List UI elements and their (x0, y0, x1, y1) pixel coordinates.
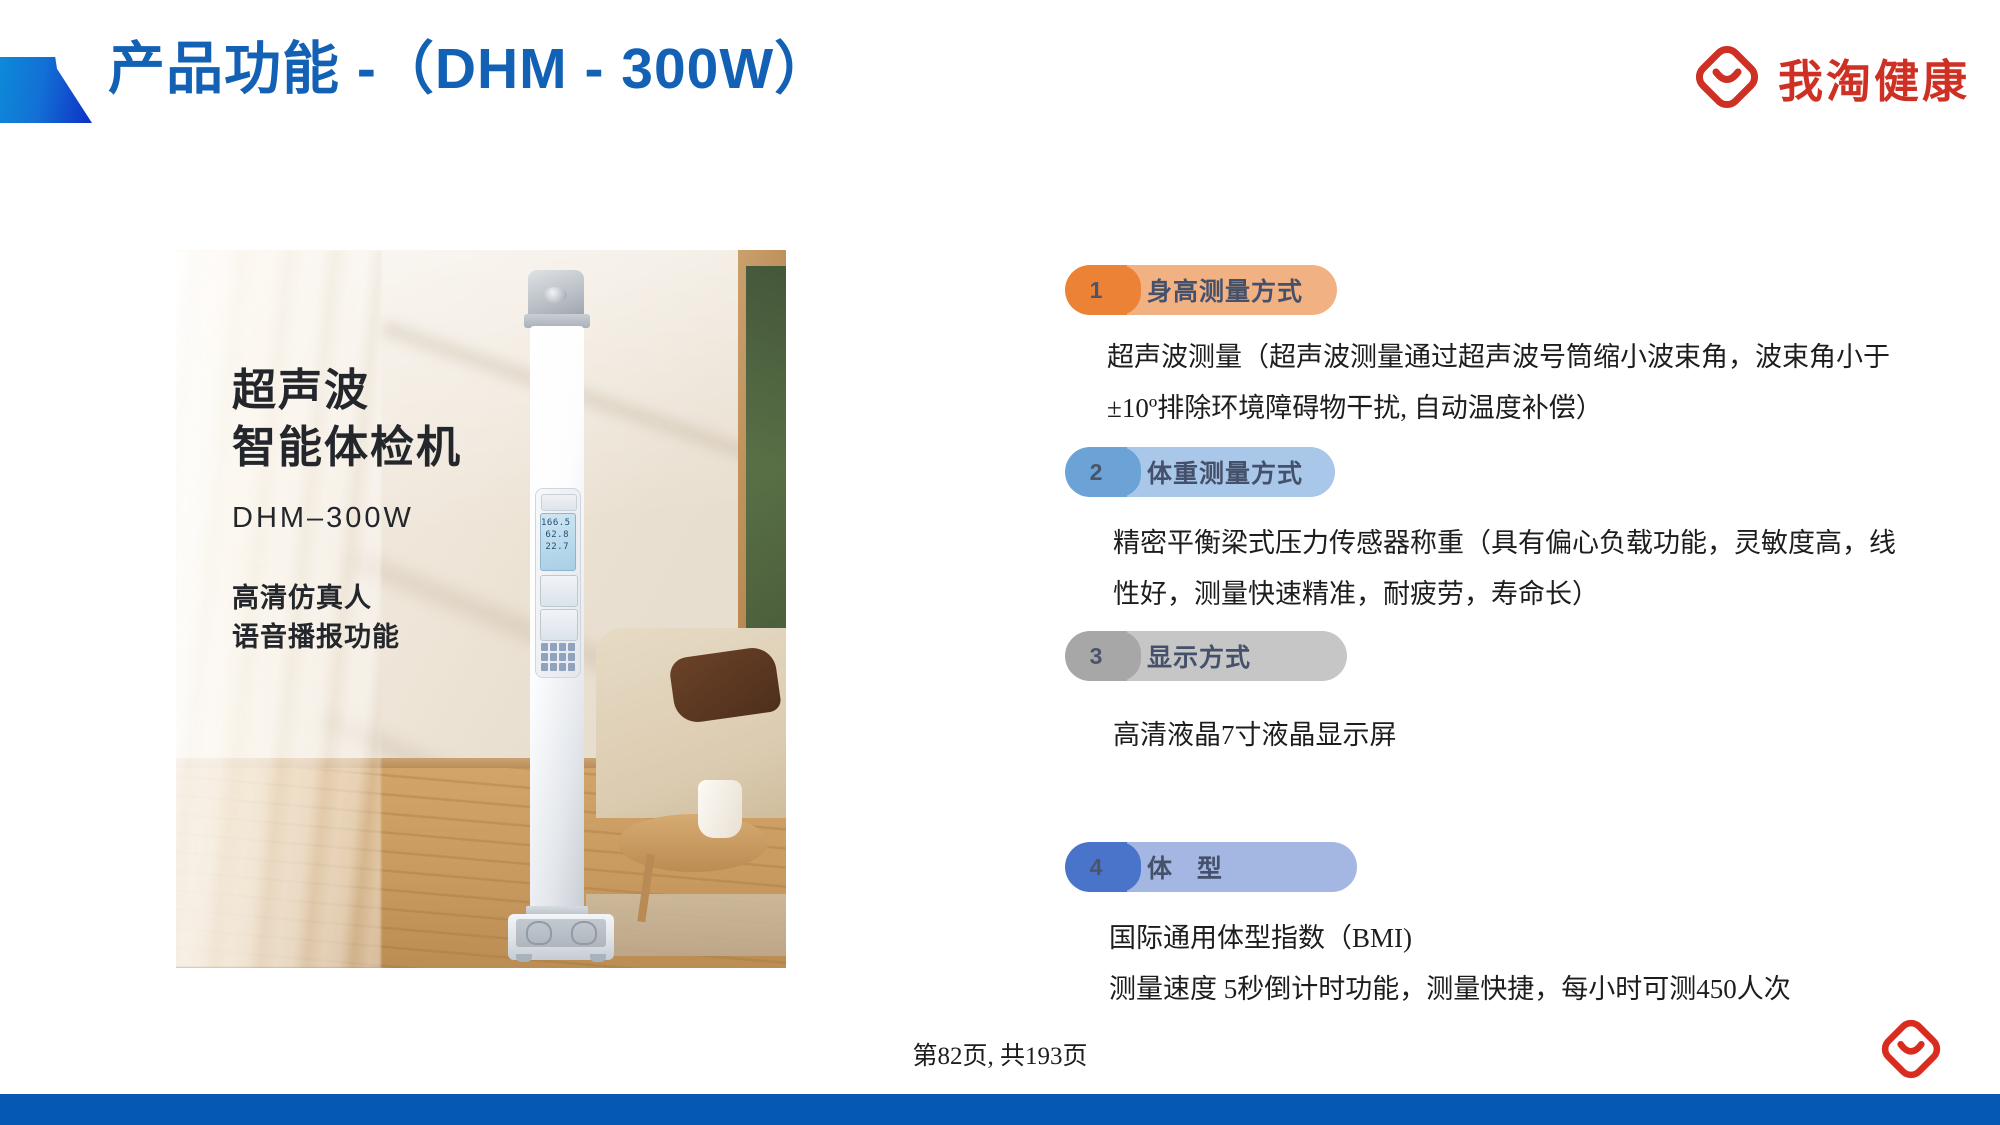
lcd-bmi-value: 22.7 (541, 541, 573, 553)
base-feet (508, 954, 614, 962)
weighing-plate (516, 919, 606, 947)
photo-headline-line1: 超声波 (232, 366, 370, 415)
page-number-label: 第82页, 共193页 (0, 1036, 2000, 1072)
photo-subtitle-line2: 语音播报功能 (232, 622, 400, 652)
page-title: 产品功能 -（DHM - 300W） (108, 34, 832, 105)
feature-body-line: 精密平衡梁式压力传感器称重（具有偏心负载功能，灵敏度高，线 (1113, 523, 1923, 564)
feature-item-4: 4 体 型 国际通用体型指数（BMI) 测量速度 5秒倒计时功能，测量快捷，每小… (1065, 842, 1905, 1010)
photo-rug (586, 894, 786, 956)
feature-badge-1[interactable]: 1 身高测量方式 (1065, 265, 1337, 315)
feature-body-line: 国际通用体型指数（BMI) (1109, 918, 1905, 959)
photo-headline-line2: 智能体检机 (232, 423, 462, 472)
feature-label-4: 体 型 (1127, 849, 1357, 885)
feature-item-2: 2 体重测量方式 精密平衡梁式压力传感器称重（具有偏心负载功能，灵敏度高，线 性… (1065, 447, 1905, 615)
photo-doorframe (738, 250, 786, 648)
feature-label-3: 显示方式 (1127, 638, 1347, 674)
ultrasonic-sensor-head (528, 270, 584, 318)
feature-body-line: 测量速度 5秒倒计时功能，测量快捷，每小时可测450人次 (1109, 969, 1905, 1010)
feature-label-2: 体重测量方式 (1127, 454, 1335, 490)
feature-body-line: 性好，测量快速精准，耐疲劳，寿命长） (1113, 574, 1923, 615)
feature-item-3: 3 显示方式 高清液晶7寸液晶显示屏 (1065, 631, 1905, 756)
feature-number-3: 3 (1065, 631, 1127, 681)
footprint-icon (526, 921, 552, 945)
feature-label-1: 身高测量方式 (1127, 272, 1337, 308)
feature-body-line: 超声波测量（超声波测量通过超声波号筒缩小波束角，波束角小于 (1107, 337, 1907, 378)
product-photo: 166.5 62.8 22.7 超声波 (176, 250, 786, 968)
machine-control-panel: 166.5 62.8 22.7 (535, 488, 581, 678)
feature-badge-4[interactable]: 4 体 型 (1065, 842, 1357, 892)
feature-badge-3[interactable]: 3 显示方式 (1065, 631, 1347, 681)
lcd-weight-value: 62.8 (541, 529, 573, 541)
footer-bar (0, 1094, 2000, 1125)
feature-body-3: 高清液晶7寸液晶显示屏 (1065, 715, 1905, 756)
photo-subtitle-line1: 高清仿真人 (232, 583, 372, 613)
feature-body-2: 精密平衡梁式压力传感器称重（具有偏心负载功能，灵敏度高，线 性好，测量快速精准，… (1065, 523, 1923, 615)
panel-keypad (541, 643, 575, 671)
feature-body-1: 超声波测量（超声波测量通过超声波号筒缩小波束角，波束角小于 ±10º排除环境障碍… (1065, 337, 1907, 429)
machine-base (508, 914, 614, 960)
panel-sub-display-upper (540, 575, 578, 607)
feature-number-4: 4 (1065, 842, 1127, 892)
feature-number-2: 2 (1065, 447, 1127, 497)
photo-text-overlay: 超声波 智能体检机 DHM–300W 高清仿真人 语音播报功能 (232, 362, 462, 656)
slide-root: 产品功能 -（DHM - 300W） 我淘健康 (0, 0, 2000, 1125)
feature-item-1: 1 身高测量方式 超声波测量（超声波测量通过超声波号筒缩小波束角，波束角小于 ±… (1065, 265, 1905, 429)
feature-body-4: 国际通用体型指数（BMI) 测量速度 5秒倒计时功能，测量快捷，每小时可测450… (1065, 918, 1905, 1010)
blue-flag-accent-icon (0, 57, 92, 123)
feature-body-line: ±10º排除环境障碍物干扰, 自动温度补偿） (1107, 388, 1907, 429)
height-weight-machine: 166.5 62.8 22.7 (514, 270, 610, 960)
feature-body-line: 高清液晶7寸液晶显示屏 (1113, 715, 1905, 756)
photo-side-table (618, 814, 768, 872)
lcd-height-value: 166.5 (541, 517, 573, 529)
feature-badge-2[interactable]: 2 体重测量方式 (1065, 447, 1335, 497)
panel-status-strip (541, 494, 577, 511)
footprint-icon (571, 921, 597, 945)
brand-logo: 我淘健康 (1694, 44, 1970, 110)
photo-model-label: DHM–300W (232, 502, 462, 535)
photo-vase (698, 780, 742, 838)
brand-name: 我淘健康 (1778, 45, 1970, 110)
feature-list: 1 身高测量方式 超声波测量（超声波测量通过超声波号筒缩小波束角，波束角小于 ±… (1065, 265, 1905, 1010)
feature-number-1: 1 (1065, 265, 1127, 315)
panel-sub-display-lower (540, 609, 578, 641)
machine-lcd-display: 166.5 62.8 22.7 (540, 513, 576, 571)
footer-wotao-diamond-logo-icon (1880, 1018, 1942, 1080)
wotao-diamond-logo-icon (1694, 44, 1760, 110)
